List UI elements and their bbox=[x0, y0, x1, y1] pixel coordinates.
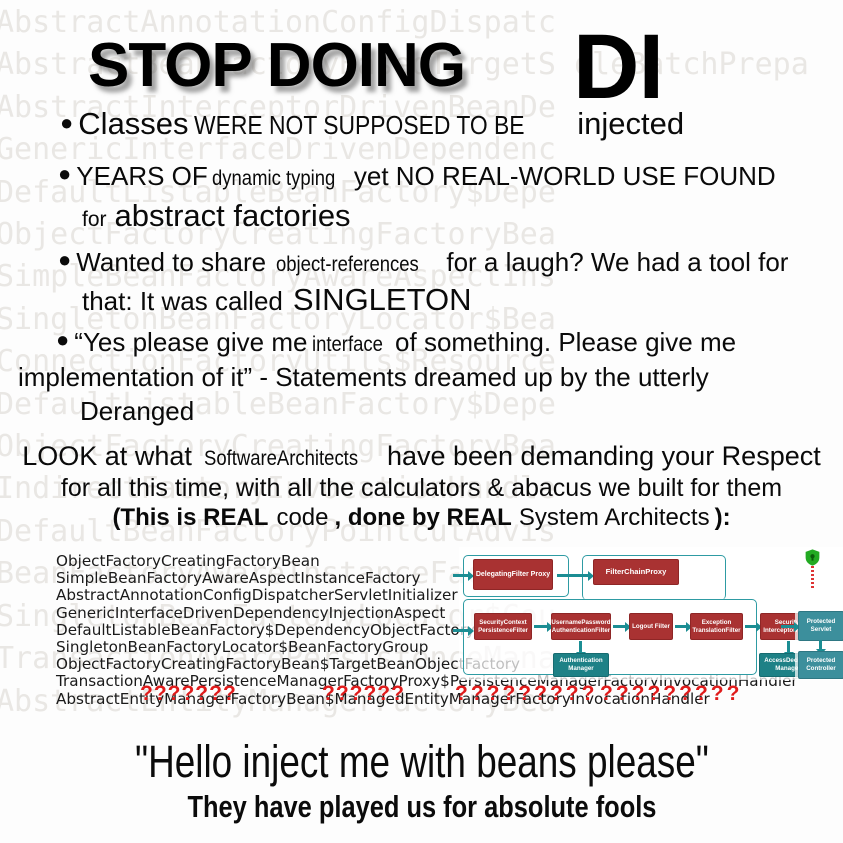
subject-title: DI bbox=[573, 15, 663, 120]
diagram-arrow-to-servlet bbox=[781, 625, 795, 628]
diagram-box-authentication-manager: Authentication Manager bbox=[553, 653, 609, 677]
look-text-closing-paren: ): bbox=[715, 504, 731, 531]
bullet-item-years: ●YEARS OFdynamic typingyet NO REAL-WORLD… bbox=[58, 162, 776, 191]
diagram-label-logout-filter: Logout Filter bbox=[632, 623, 670, 631]
bullet-text-interface: interface bbox=[312, 334, 383, 356]
look-line-1: LOOK at whatSoftwareArchitectshave been … bbox=[0, 440, 843, 473]
bullet-item-yes-please: ●“Yes please give meinterfaceof somethin… bbox=[56, 328, 736, 357]
diagram-dotted-link bbox=[811, 566, 814, 588]
look-line-3: (This is REALcode, done by REALSystem Ar… bbox=[0, 503, 843, 532]
diagram-label-filter-chain-proxy: FilterChainProxy bbox=[606, 568, 667, 576]
diagram-arrow-auth-manager bbox=[579, 641, 582, 653]
look-line-2: for all this time, with all the calculat… bbox=[0, 473, 843, 504]
diagram-protected-group: Protected Servlet Protected Controller bbox=[795, 547, 843, 680]
played-us-for-fools-line: They have played us for absolute fools bbox=[0, 789, 843, 824]
look-text-system-architects: System Architects bbox=[519, 504, 710, 531]
bullet-text-deranged: Deranged bbox=[80, 396, 194, 426]
bullet-text-abstract-factories: abstract factories bbox=[115, 198, 351, 233]
hello-inject-text: "Hello inject me with beans please" bbox=[135, 738, 709, 787]
diagram-label-delegating-filter-proxy: DelegatingFilter Proxy bbox=[476, 571, 550, 579]
diagram-box-delegating-filter-proxy: DelegatingFilter Proxy bbox=[473, 559, 553, 590]
diagram-arrow-in-1 bbox=[453, 574, 469, 577]
shield-lock-icon bbox=[805, 549, 820, 566]
diagram-box-username-password-authentication-filter: UsernamePassword AuthenticationFilter bbox=[551, 613, 611, 640]
look-paragraph: LOOK at whatSoftwareArchitectshave been … bbox=[0, 440, 843, 533]
bullet-text-of-something: of something. Please give me bbox=[395, 327, 736, 357]
diagram-arrow-f1-f2 bbox=[534, 625, 548, 628]
diagram-label-protected-servlet: Protected Servlet bbox=[799, 618, 843, 634]
bullet-text-dynamic-typing: dynamic typing bbox=[212, 168, 335, 190]
meme-header: STOP DOING DI bbox=[0, 14, 843, 110]
look-text-look-at-what: LOOK at what bbox=[22, 441, 192, 471]
bullet-text-for-a-laugh: for a laugh? We had a tool for bbox=[446, 247, 788, 277]
meme-image: AbstractAnnotationConfigDispatcAbstractB… bbox=[0, 0, 843, 843]
bullet-text-classes: Classes bbox=[78, 106, 188, 141]
diagram-box-protected-controller: Protected Controller bbox=[798, 651, 843, 679]
diagram-box-protected-servlet: Protected Servlet bbox=[798, 611, 843, 641]
bullet-dot-icon: ● bbox=[58, 161, 71, 186]
bullet-item-classes: ●ClassesWERE NOT SUPPOSED TO BEinjected bbox=[60, 108, 684, 141]
bullet-text-that-it-was-called: that: It was called bbox=[82, 286, 283, 316]
bullet-item-share: ●Wanted to shareobject-referencesfor a l… bbox=[58, 248, 788, 277]
bullet-item-deranged: Deranged bbox=[80, 398, 194, 426]
look-text-code: code bbox=[276, 504, 328, 531]
diagram-arrow-access-decision bbox=[787, 641, 790, 653]
bullet-text-were-not-supposed: WERE NOT SUPPOSED TO BE bbox=[194, 112, 525, 140]
diagram-label-exception-translation-filter: Exception TranslationFilter bbox=[691, 619, 742, 635]
bullet-text-for: for bbox=[82, 208, 107, 231]
diagram-box-exception-translation-filter: Exception TranslationFilter bbox=[690, 613, 743, 640]
bullet-text-wanted-to-share: Wanted to share bbox=[76, 247, 266, 277]
hello-inject-line: "Hello inject me with beans please" bbox=[0, 738, 843, 787]
diagram-arrow-f4-f5 bbox=[745, 625, 757, 628]
diagram-label-protected-controller: Protected Controller bbox=[799, 657, 843, 673]
diagram-label-security-context-persistence-filter: SecurityContext PersistenceFilter bbox=[475, 619, 531, 635]
spring-security-filter-chain-diagram: DelegatingFilter Proxy FilterChainProxy … bbox=[459, 547, 843, 680]
bullet-text-object-references: object-references bbox=[276, 254, 419, 276]
diagram-box-security-context-persistence-filter: SecurityContext PersistenceFilter bbox=[474, 613, 532, 640]
bullet-item-implementation: implementation of it” - Statements dream… bbox=[18, 364, 709, 392]
bullet-text-singleton: SINGLETON bbox=[293, 282, 472, 317]
stop-doing-title: STOP DOING bbox=[88, 30, 465, 101]
bullet-dot-icon: ● bbox=[60, 110, 73, 135]
diagram-box-filter-chain-proxy: FilterChainProxy bbox=[593, 559, 679, 585]
diagram-arrow-in-2 bbox=[453, 629, 469, 632]
bullet-text-yes-please: “Yes please give me bbox=[74, 327, 307, 357]
bottom-caption: "Hello inject me with beans please" They… bbox=[0, 738, 843, 824]
look-text-demanding-respect: have been demanding your Respect bbox=[387, 441, 821, 471]
look-text-software-architects: SoftwareArchitects bbox=[204, 446, 358, 472]
diagram-arrow-delegating-to-chain bbox=[557, 574, 589, 577]
bullet-text-no-real-world: yet NO REAL-WORLD USE FOUND bbox=[354, 161, 776, 191]
bullet-text-injected: injected bbox=[577, 106, 684, 141]
look-text-done-by-real: , done by REAL bbox=[335, 504, 512, 531]
bullet-dot-icon: ● bbox=[56, 327, 69, 352]
bullet-text-implementation: implementation of it” - Statements dream… bbox=[18, 362, 709, 392]
diagram-label-authentication-manager: Authentication Manager bbox=[554, 657, 608, 673]
bullet-item-singleton: that: It was calledSINGLETON bbox=[82, 284, 471, 317]
bullet-text-years-of: YEARS OF bbox=[76, 161, 207, 191]
bullet-dot-icon: ● bbox=[58, 247, 71, 272]
bullet-item-abstract-factories: forabstract factories bbox=[82, 200, 351, 233]
diagram-box-logout-filter: Logout Filter bbox=[629, 613, 673, 640]
diagram-arrow-f2-f3 bbox=[613, 625, 626, 628]
diagram-arrow-servlet-controller bbox=[819, 640, 822, 650]
look-text-this-is-real: (This is REAL bbox=[112, 504, 268, 531]
played-us-for-fools-text: They have played us for absolute fools bbox=[187, 789, 656, 824]
diagram-label-username-password-authentication-filter: UsernamePassword AuthenticationFilter bbox=[551, 619, 610, 635]
diagram-arrow-f3-f4 bbox=[675, 625, 687, 628]
code-line: AbstractEntityManagerFactoryBean$Managed… bbox=[56, 691, 798, 708]
